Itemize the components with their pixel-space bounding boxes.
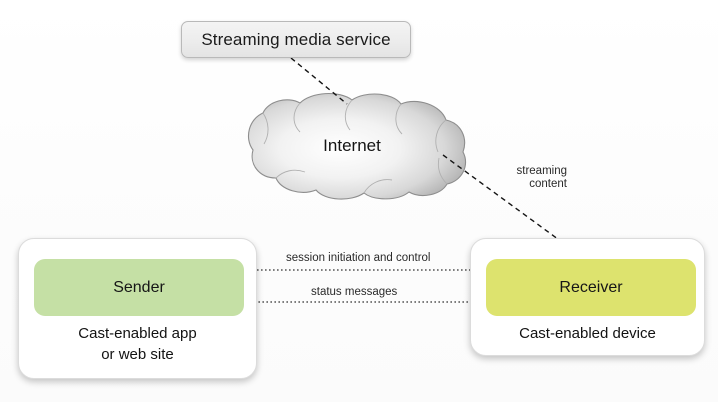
sender-role-label: Sender <box>113 279 165 297</box>
edge-label-streaming-content-line-1: streaming <box>495 165 567 178</box>
sender-caption-line-1: Cast-enabled app <box>19 323 256 344</box>
receiver-caption: Cast-enabled device <box>471 323 704 344</box>
receiver-role-label: Receiver <box>559 279 622 297</box>
sender-node[interactable]: Sender Cast-enabled app or web site <box>18 238 257 379</box>
internet-cloud-shape <box>248 94 465 200</box>
diagram-canvas: Internet Streaming media service Sender … <box>0 0 718 402</box>
sender-role-box[interactable]: Sender <box>34 259 244 316</box>
edge-label-session-initiation: session initiation and control <box>286 252 430 265</box>
sender-caption: Cast-enabled app or web site <box>19 323 256 365</box>
edge-label-streaming-content-line-2: content <box>495 178 567 191</box>
sender-caption-line-2: or web site <box>19 344 256 365</box>
edge-service-to-cloud <box>291 58 347 104</box>
edge-label-status-messages: status messages <box>311 286 397 299</box>
cloud-label: Internet <box>323 136 381 155</box>
streaming-media-service-node[interactable]: Streaming media service <box>181 21 411 58</box>
edge-label-streaming-content: streaming content <box>495 165 567 191</box>
receiver-node[interactable]: Receiver Cast-enabled device <box>470 238 705 356</box>
receiver-caption-line-1: Cast-enabled device <box>471 323 704 344</box>
streaming-media-service-label: Streaming media service <box>201 30 390 50</box>
receiver-role-box[interactable]: Receiver <box>486 259 696 316</box>
